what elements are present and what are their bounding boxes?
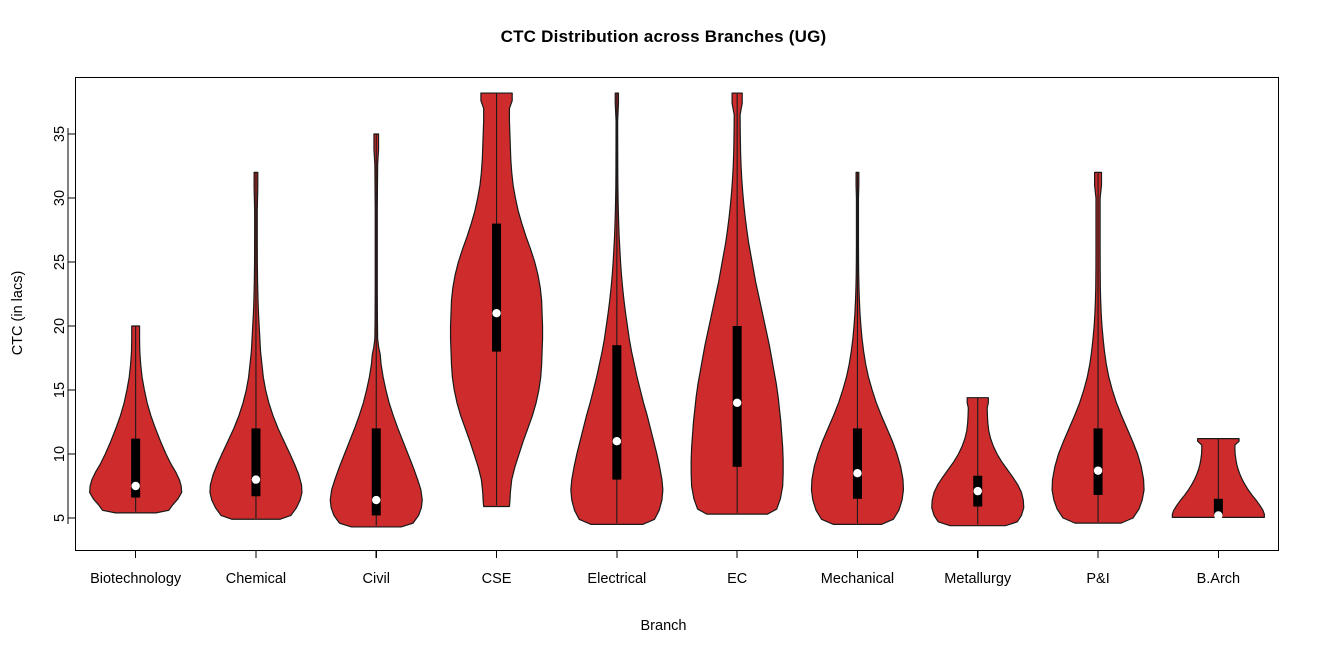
violin-chemical [210,172,302,519]
violin-median-point [733,399,741,407]
x-tick-label: Civil [363,571,390,587]
violin-b-arch [1172,439,1264,520]
violin-median-point [974,487,982,495]
x-tick-label: Biotechnology [90,571,182,587]
y-tick-label: 20 [52,318,68,334]
violin-median-point [1214,511,1222,519]
y-tick-label: 10 [52,446,68,462]
violin-iqr-box [1094,428,1103,495]
violin-median-point [1094,466,1102,474]
violin-median-point [613,437,621,445]
y-tick-label: 35 [52,126,68,142]
violin-electrical [571,93,663,524]
violins-layer [90,93,1265,527]
x-tick-label: P&I [1086,571,1109,587]
y-tick-label: 5 [52,514,68,522]
violin-civil [330,134,422,527]
violin-iqr-box [733,326,742,467]
violin-iqr-box [853,428,862,498]
violin-median-point [853,469,861,477]
violin-median-point [252,475,260,483]
violin-plot-figure: CTC Distribution across Branches (UG) 51… [0,0,1327,653]
x-tick-label: Metallurgy [944,571,1012,587]
violin-ec [691,93,783,514]
y-axis: 5101520253035 [52,126,76,524]
y-tick-label: 30 [52,190,68,206]
violin-cse [451,93,543,506]
y-tick-label: 25 [52,254,68,270]
violin-biotechnology [90,326,182,513]
x-tick-label: Electrical [587,571,646,587]
x-tick-label: B.Arch [1197,571,1241,587]
x-tick-label: CSE [482,571,512,587]
violin-p-i [1052,172,1144,523]
violin-iqr-box [492,224,501,352]
violin-median-point [131,482,139,490]
y-axis-title: CTC (in lacs) [10,271,26,356]
violin-median-point [492,309,500,317]
x-tick-label: Chemical [226,571,286,587]
x-tick-label: Mechanical [821,571,894,587]
y-tick-label: 15 [52,382,68,398]
chart-canvas: 5101520253035 BiotechnologyChemicalCivil… [0,0,1327,653]
violin-iqr-box [612,345,621,479]
x-tick-label: EC [727,571,747,587]
violin-metallurgy [932,398,1024,526]
violin-mechanical [811,172,903,524]
violin-median-point [372,496,380,504]
x-axis: BiotechnologyChemicalCivilCSEElectricalE… [90,551,1240,588]
x-axis-title: Branch [641,618,687,634]
violin-iqr-box [251,428,260,496]
